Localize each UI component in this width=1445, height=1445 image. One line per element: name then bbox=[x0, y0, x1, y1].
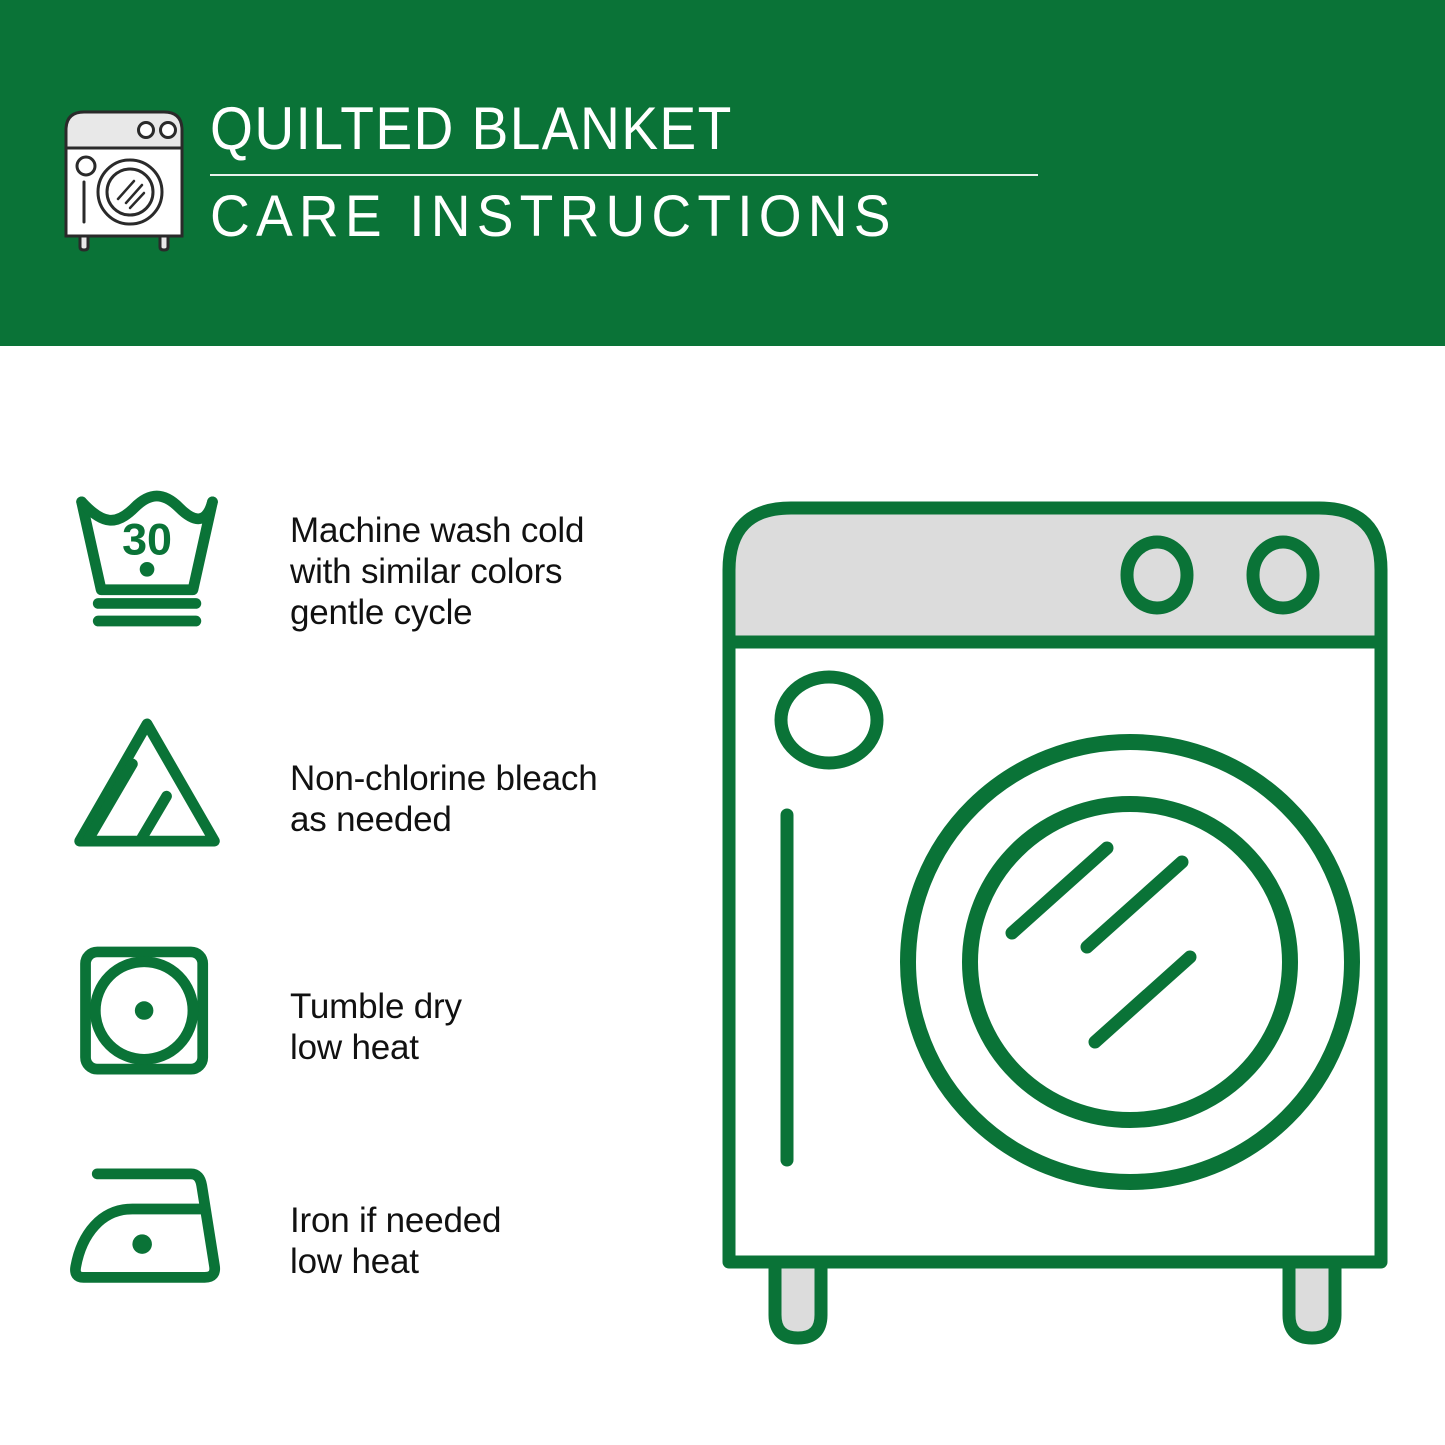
care-item-label: Machine wash cold with similar colors ge… bbox=[236, 486, 686, 633]
knob-left bbox=[1127, 542, 1187, 608]
header-band: QUILTED BLANKET CARE INSTRUCTIONS bbox=[0, 0, 1445, 346]
care-item-bleach: Non-chlorine bleach as needed bbox=[66, 710, 686, 857]
wash-temperature-value: 30 bbox=[122, 514, 172, 565]
care-line: low heat bbox=[290, 1241, 686, 1282]
care-item-label: Tumble dry low heat bbox=[236, 938, 686, 1068]
care-item-label: Iron if needed low heat bbox=[236, 1156, 686, 1282]
care-line: Non-chlorine bleach bbox=[290, 758, 686, 799]
care-line: Machine wash cold bbox=[290, 510, 686, 551]
washing-machine-illustration bbox=[712, 470, 1398, 1370]
washer-dispenser bbox=[781, 677, 877, 763]
care-line: Iron if needed bbox=[290, 1200, 686, 1241]
care-instructions-page: QUILTED BLANKET CARE INSTRUCTIONS 30 bbox=[0, 0, 1445, 1445]
care-item-label: Non-chlorine bleach as needed bbox=[236, 710, 686, 840]
care-line: as needed bbox=[290, 799, 686, 840]
care-line: Tumble dry bbox=[290, 986, 686, 1027]
care-line: low heat bbox=[290, 1027, 686, 1068]
title-primary: QUILTED BLANKET bbox=[210, 96, 974, 162]
care-item-machine-wash: 30 Machine wash cold with similar colors… bbox=[66, 486, 686, 633]
iron-low-heat-icon bbox=[66, 1156, 236, 1303]
care-line: gentle cycle bbox=[290, 592, 686, 633]
wash-tub-30-icon: 30 bbox=[66, 486, 236, 633]
title-secondary: CARE INSTRUCTIONS bbox=[210, 186, 999, 248]
knob-right bbox=[1253, 542, 1313, 608]
washing-machine-icon bbox=[62, 104, 186, 252]
page-title: QUILTED BLANKET CARE INSTRUCTIONS bbox=[210, 96, 1040, 248]
header-content: QUILTED BLANKET CARE INSTRUCTIONS bbox=[62, 96, 992, 261]
washer-legs bbox=[775, 1262, 1335, 1338]
leg-left bbox=[775, 1262, 821, 1338]
care-line: with similar colors bbox=[290, 551, 686, 592]
care-item-tumble-dry: Tumble dry low heat bbox=[66, 938, 686, 1085]
leg-right bbox=[1289, 1262, 1335, 1338]
care-item-iron: Iron if needed low heat bbox=[66, 1156, 686, 1303]
title-divider bbox=[210, 174, 1038, 176]
non-chlorine-bleach-triangle-icon bbox=[66, 710, 236, 857]
tumble-dry-low-icon bbox=[66, 938, 236, 1085]
